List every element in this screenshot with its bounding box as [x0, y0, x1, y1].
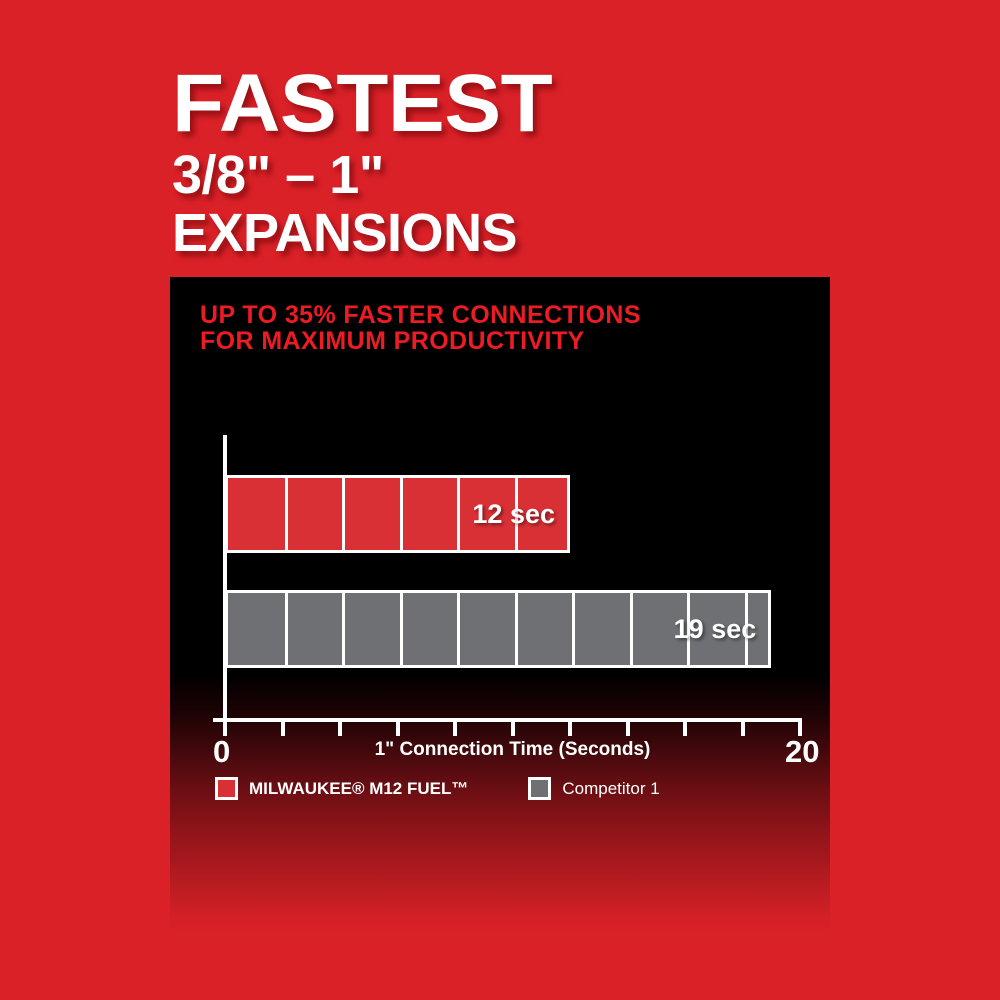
x-axis-line	[213, 718, 802, 722]
headline-line-2: 3/8" – 1"	[172, 146, 872, 204]
bar-segment-divider	[457, 593, 460, 665]
bar-segment-divider	[572, 593, 575, 665]
legend-label-competitor: Competitor 1	[562, 779, 659, 799]
bar-segment-divider	[285, 593, 288, 665]
legend-label-milwaukee: MILWAUKEE® M12 FUEL™	[249, 779, 468, 799]
x-tick-14	[626, 722, 630, 736]
x-axis-title: 1" Connection Time (Seconds)	[225, 737, 800, 763]
bar-segment-divider	[342, 593, 345, 665]
headline-line-1: FASTEST	[172, 62, 900, 146]
bar-competitor: 19 sec	[225, 590, 771, 668]
bar-value-milwaukee: 12 sec	[472, 500, 555, 528]
chart-headline: UP TO 35% FASTER CONNECTIONS FOR MAXIMUM…	[200, 302, 641, 354]
legend-swatch-icon-milwaukee	[215, 777, 238, 800]
plot-area: 12 sec 19 sec 0 20 1" Connection Time (S…	[225, 435, 800, 718]
bar-segment-divider	[285, 478, 288, 550]
bar-segment-divider	[400, 478, 403, 550]
headline-line-3: EXPANSIONS	[172, 204, 872, 262]
headline-block: FASTEST 3/8" – 1" EXPANSIONS	[172, 62, 872, 262]
x-tick-0	[223, 706, 227, 736]
x-tick-2	[281, 722, 285, 736]
x-tick-10	[511, 722, 515, 736]
x-tick-6	[396, 722, 400, 736]
x-tick-12	[568, 722, 572, 736]
x-tick-16	[683, 722, 687, 736]
chart-panel: UP TO 35% FASTER CONNECTIONS FOR MAXIMUM…	[170, 277, 830, 937]
bar-segment-divider	[630, 593, 633, 665]
x-tick-18	[741, 722, 745, 736]
x-tick-4	[338, 722, 342, 736]
chart-legend: MILWAUKEE® M12 FUEL™ Competitor 1	[215, 777, 720, 800]
bar-segment-divider	[457, 478, 460, 550]
bar-segment-divider	[515, 593, 518, 665]
legend-item-milwaukee: MILWAUKEE® M12 FUEL™	[215, 777, 468, 800]
bar-value-competitor: 19 sec	[674, 615, 757, 643]
legend-swatch-icon-competitor	[528, 777, 551, 800]
bar-segment-divider	[342, 478, 345, 550]
promo-poster: FASTEST 3/8" – 1" EXPANSIONS UP TO 35% F…	[0, 0, 1000, 1000]
x-tick-8	[453, 722, 457, 736]
legend-item-competitor: Competitor 1	[528, 777, 659, 800]
bar-segment-divider	[400, 593, 403, 665]
bar-milwaukee: 12 sec	[225, 475, 570, 553]
